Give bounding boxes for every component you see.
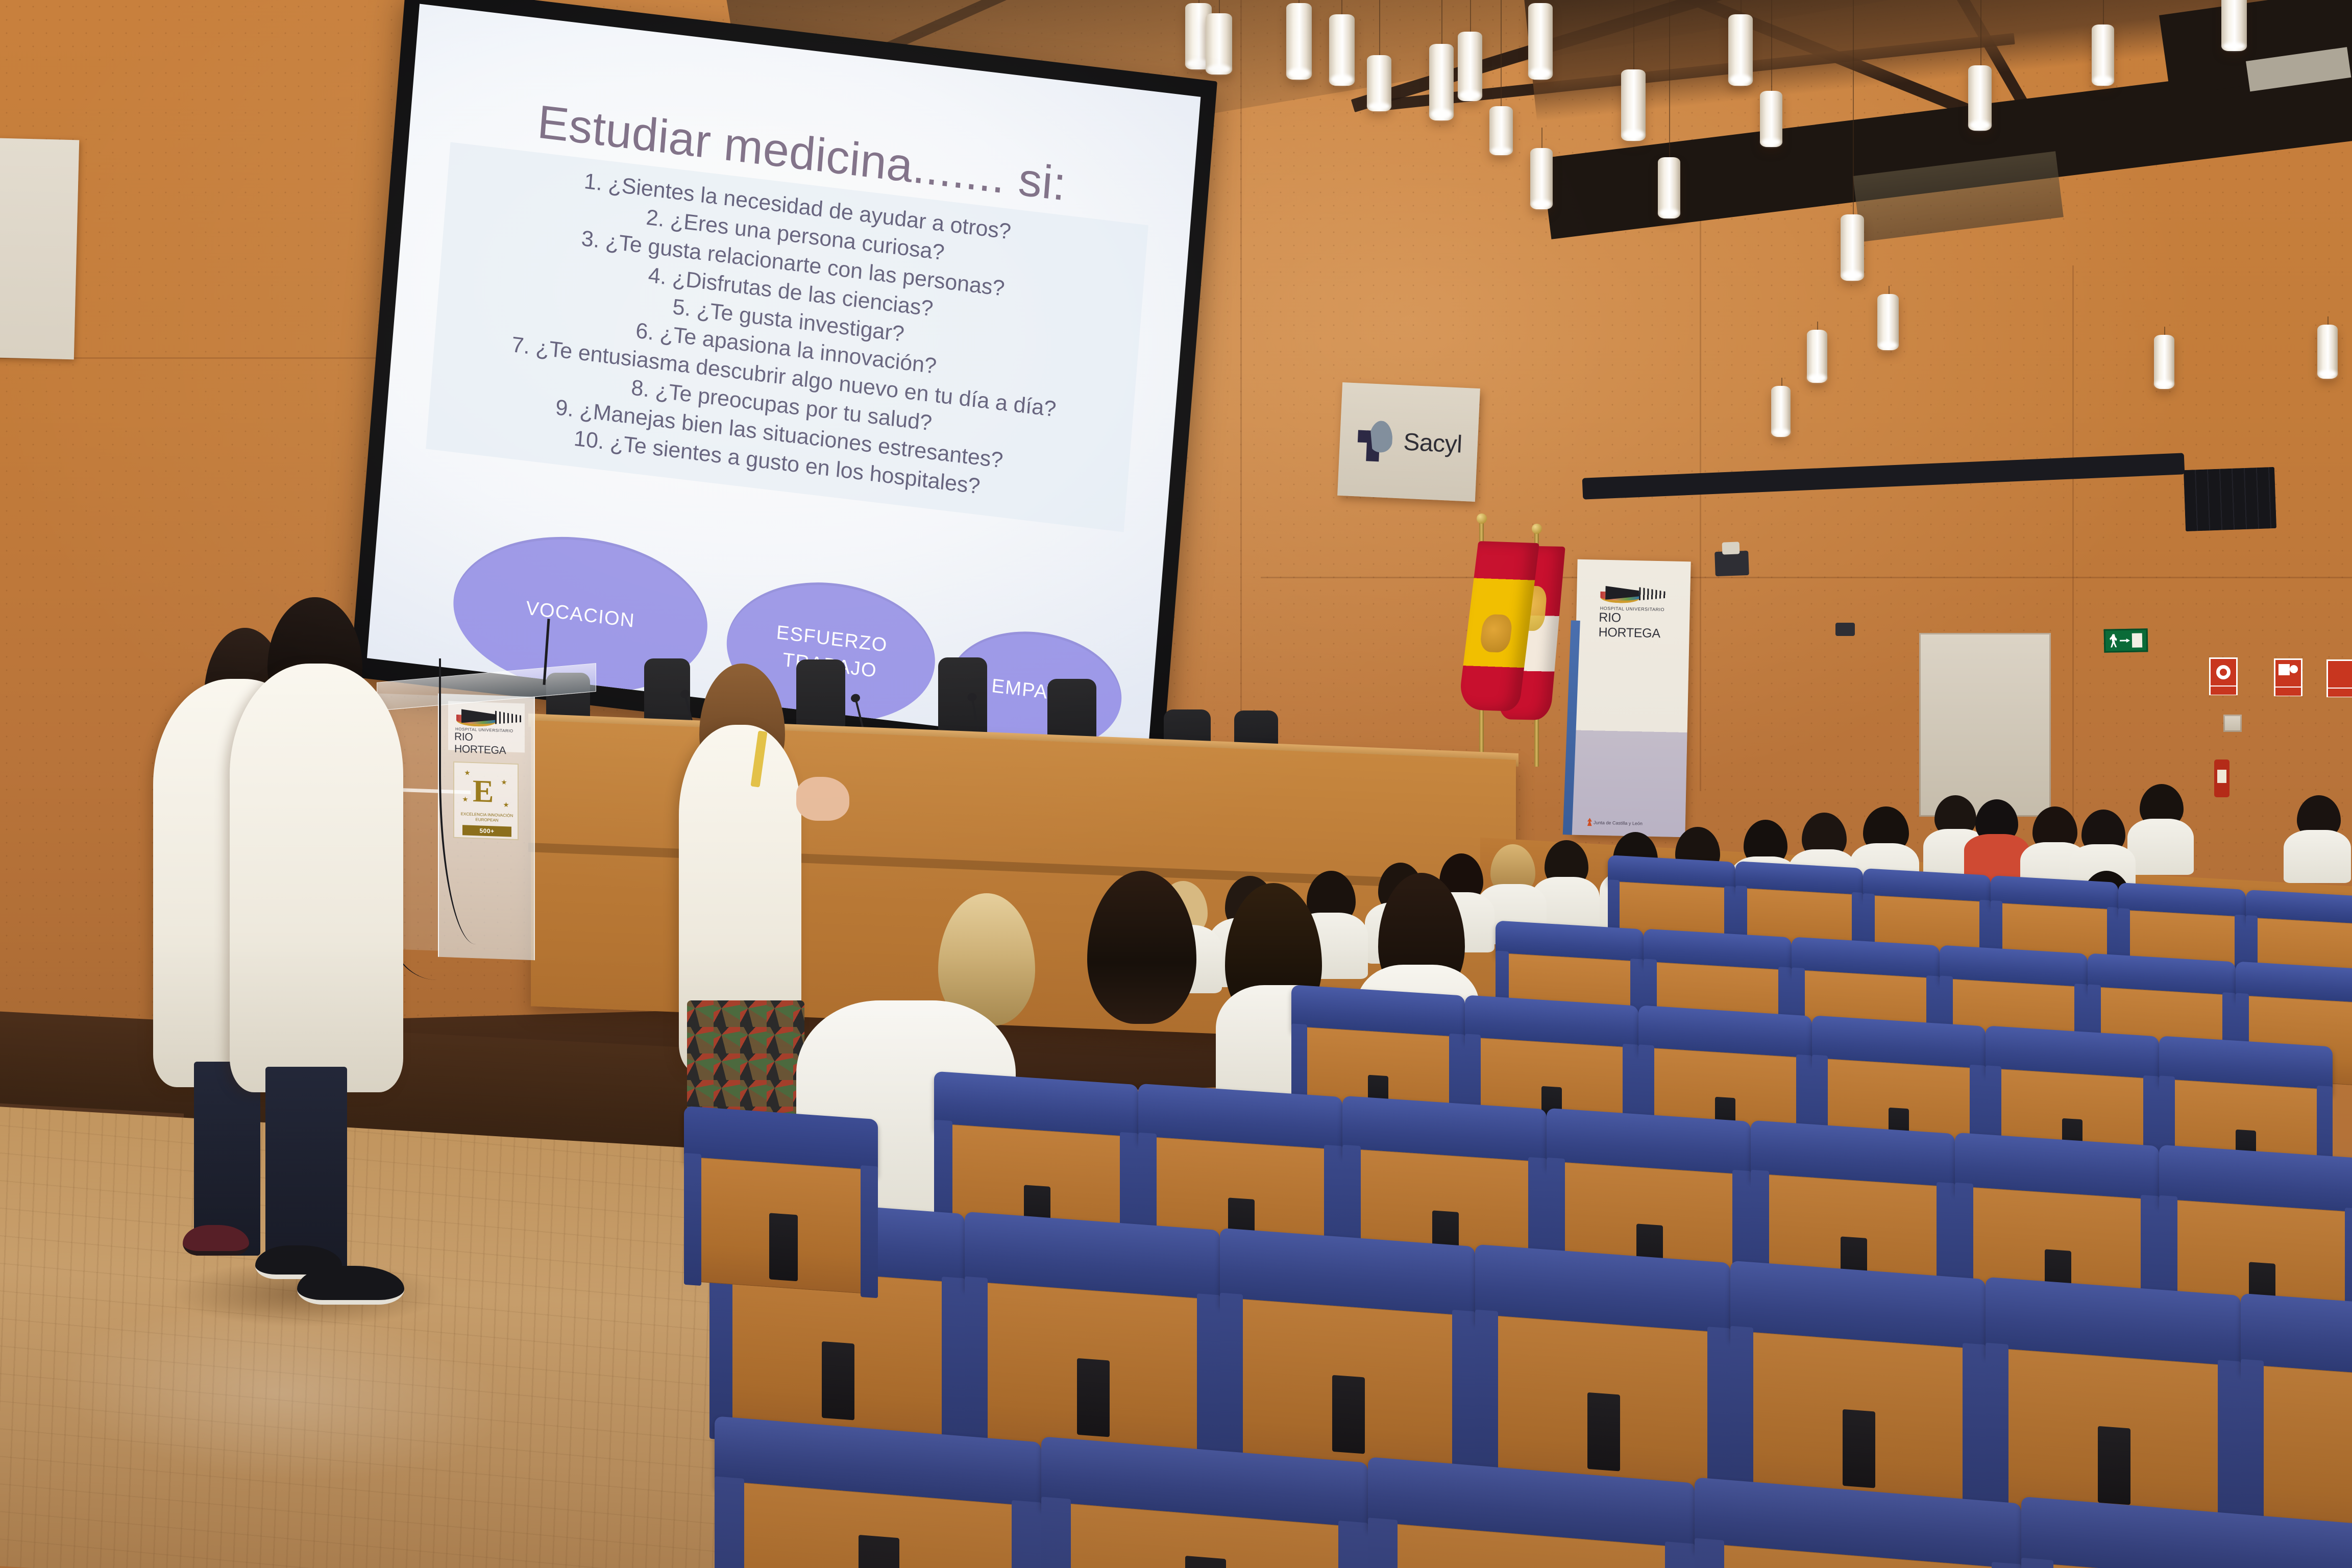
pendant-light xyxy=(1728,14,1753,86)
slide: Estudiar medicina....... si: 1. ¿Sientes… xyxy=(367,4,1200,751)
pendant-light xyxy=(2154,335,2174,389)
auditorium-seat xyxy=(1220,1228,1475,1479)
fire-extinguisher-icon xyxy=(2214,759,2229,797)
banner-name: RIO HORTEGA xyxy=(1598,610,1680,642)
pendant-light xyxy=(1528,3,1553,80)
side-door xyxy=(1919,633,2051,817)
fire-hose-icon xyxy=(2274,658,2302,696)
sneaker xyxy=(297,1266,404,1305)
wall-access-panel xyxy=(2223,715,2242,732)
pendant-light xyxy=(1771,386,1791,437)
oval-line-1: VOCACION xyxy=(525,595,636,634)
screen-surface: Estudiar medicina....... si: 1. ¿Sientes… xyxy=(367,4,1200,751)
pendant-light xyxy=(1807,330,1827,383)
sacyl-wordmark: Sacyl xyxy=(1403,428,1462,458)
pendant-light xyxy=(1429,44,1454,120)
sacyl-logo-icon xyxy=(1355,420,1396,461)
pendant-light xyxy=(1841,214,1864,281)
auditorium-seat xyxy=(965,1212,1220,1461)
auditorium-seat xyxy=(1730,1261,1986,1513)
rio-hortega-logo-icon xyxy=(1600,584,1667,603)
pendant-light xyxy=(1206,13,1232,75)
student-coat xyxy=(2284,830,2351,883)
pendant-light xyxy=(1968,65,1992,131)
fire-equipment-icon xyxy=(2326,659,2352,697)
pendant-light xyxy=(1329,14,1355,86)
pendant-light xyxy=(1621,69,1646,141)
flagpole-finial xyxy=(1532,524,1542,534)
projector-lens-icon xyxy=(1722,542,1740,554)
hand xyxy=(796,777,849,821)
pendant-light xyxy=(1286,3,1312,80)
sacyl-wall-sign: Sacyl xyxy=(1337,382,1480,502)
wall-seam xyxy=(1261,577,2352,578)
auditorium-seat xyxy=(684,1106,878,1288)
wall-poster-line1: e xyxy=(0,235,77,268)
pendant-light xyxy=(1877,294,1899,350)
pendant-light xyxy=(2092,24,2114,86)
pendant-light xyxy=(1530,148,1553,209)
flagpole-finial xyxy=(1477,513,1487,524)
pendant-light xyxy=(2221,0,2247,51)
auditorium-seat xyxy=(1475,1244,1730,1496)
wall-speaker xyxy=(2184,467,2276,531)
auditorium-seat xyxy=(1986,1277,2241,1531)
student-coat xyxy=(2127,819,2194,875)
wall-poster-left: e n xyxy=(0,138,79,360)
wall-poster-line2: n xyxy=(0,266,76,299)
pendant-light xyxy=(1760,91,1782,147)
auditorium-seat xyxy=(715,1416,1041,1568)
pendant-light xyxy=(1458,32,1482,101)
pendant-light xyxy=(1489,106,1513,155)
wall-control-box xyxy=(1835,623,1855,636)
auditorium-seat xyxy=(2241,1293,2352,1548)
pendant-light xyxy=(1658,157,1680,218)
pendant-light xyxy=(1367,55,1391,111)
auditorium-photo: e n Sacyl HOSPITAL UNIVERSITARIO RIO HOR… xyxy=(0,0,2352,1568)
banner-footer: Junta de Castilla y León xyxy=(1587,818,1643,827)
lab-coat xyxy=(230,664,403,1092)
trousers xyxy=(265,1067,347,1271)
fire-alarm-icon xyxy=(2209,657,2238,695)
emergency-exit-icon xyxy=(2104,628,2148,652)
wall-seam xyxy=(2072,265,2074,827)
wall-seam xyxy=(1700,153,1701,791)
pendant-light xyxy=(2317,325,2338,379)
rio-hortega-banner: HOSPITAL UNIVERSITARIO RIO HORTEGA Junta… xyxy=(1572,559,1690,838)
projection-screen: Estudiar medicina....... si: 1. ¿Sientes… xyxy=(350,0,1217,773)
projector-mount xyxy=(1714,551,1749,576)
shoe xyxy=(183,1225,249,1256)
